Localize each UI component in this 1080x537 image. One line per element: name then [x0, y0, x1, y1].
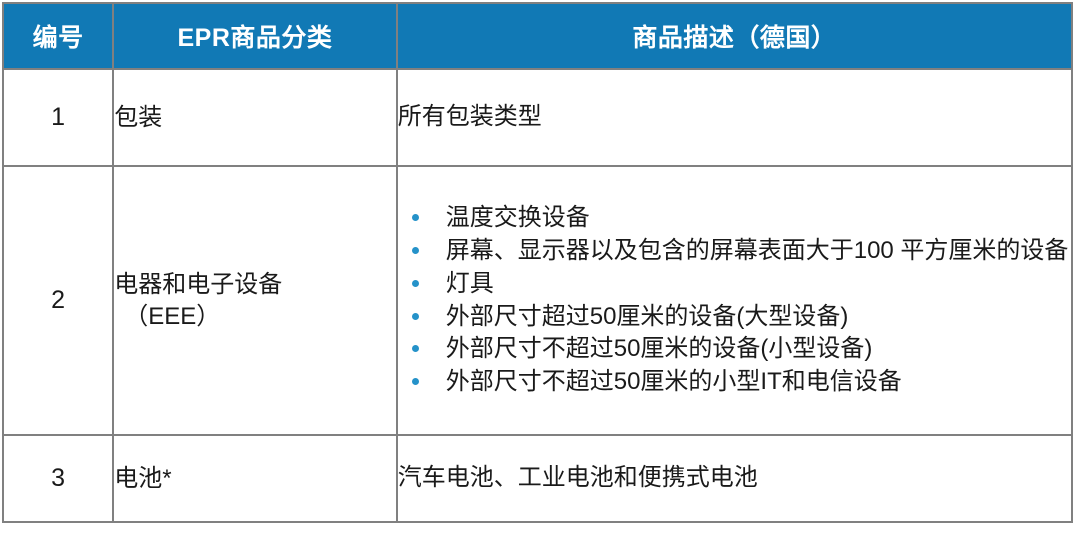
epr-category-table: 编号 EPR商品分类 商品描述（德国） 1 包装 所有包装类型 2 电器和电子设… [2, 2, 1073, 523]
list-item-label: 灯具 [446, 270, 494, 297]
category-label: 电池* [114, 465, 171, 492]
bullet-dot-icon [412, 214, 419, 221]
bullet-dot-icon [412, 313, 419, 320]
description-text: 汽车电池、工业电池和便携式电池 [398, 464, 758, 491]
description-text: 所有包装类型 [398, 103, 542, 130]
row-number-cell: 3 [3, 435, 113, 522]
row-category-cell: 包装 [113, 69, 397, 166]
header-row: 编号 EPR商品分类 商品描述（德国） [3, 3, 1072, 69]
list-item: 外部尺寸超过50厘米的设备(大型设备) [398, 301, 1071, 333]
row-number-cell: 1 [3, 69, 113, 166]
category-label: 电器和电子设备 [114, 271, 282, 298]
bullet-dot-icon [412, 280, 419, 287]
table-header: 编号 EPR商品分类 商品描述（德国） [3, 3, 1072, 69]
table-row: 2 电器和电子设备 （EEE） 温度交换设备 [3, 166, 1072, 435]
description-bullet-list: 温度交换设备 屏幕、显示器以及包含的屏幕表面大于100 平方厘米的设备 灯具 [398, 202, 1071, 398]
list-item: 温度交换设备 [398, 202, 1071, 234]
list-item: 灯具 [398, 268, 1071, 300]
list-item: 外部尺寸不超过50厘米的设备(小型设备) [398, 333, 1071, 365]
epr-category-table-container: 编号 EPR商品分类 商品描述（德国） 1 包装 所有包装类型 2 电器和电子设… [2, 2, 1073, 527]
row-category-cell: 电池* [113, 435, 397, 522]
list-item-label: 外部尺寸超过50厘米的设备(大型设备) [446, 303, 849, 330]
list-item-label: 温度交换设备 [446, 204, 590, 231]
bullet-dot-icon [412, 345, 419, 352]
row-number-cell: 2 [3, 166, 113, 435]
bullet-dot-icon [412, 378, 419, 385]
column-header-number: 编号 [3, 3, 113, 69]
list-item-label: 屏幕、显示器以及包含的屏幕表面大于100 平方厘米的设备 [446, 237, 1069, 264]
category-label: 包装 [114, 104, 162, 131]
column-header-description: 商品描述（德国） [397, 3, 1072, 69]
table-body: 1 包装 所有包装类型 2 电器和电子设备 （EEE） [3, 69, 1072, 522]
column-header-category: EPR商品分类 [113, 3, 397, 69]
table-row: 1 包装 所有包装类型 [3, 69, 1072, 166]
table-row: 3 电池* 汽车电池、工业电池和便携式电池 [3, 435, 1072, 522]
row-description-cell: 温度交换设备 屏幕、显示器以及包含的屏幕表面大于100 平方厘米的设备 灯具 [397, 166, 1072, 435]
row-description-cell: 所有包装类型 [397, 69, 1072, 166]
list-item: 屏幕、显示器以及包含的屏幕表面大于100 平方厘米的设备 [398, 235, 1071, 267]
list-item-label: 外部尺寸不超过50厘米的小型IT和电信设备 [446, 368, 902, 395]
list-item-label: 外部尺寸不超过50厘米的设备(小型设备) [446, 335, 873, 362]
row-description-cell: 汽车电池、工业电池和便携式电池 [397, 435, 1072, 522]
row-category-cell: 电器和电子设备 （EEE） [113, 166, 397, 435]
list-item: 外部尺寸不超过50厘米的小型IT和电信设备 [398, 366, 1071, 398]
category-label-secondary: （EEE） [114, 301, 396, 333]
bullet-dot-icon [412, 247, 419, 254]
